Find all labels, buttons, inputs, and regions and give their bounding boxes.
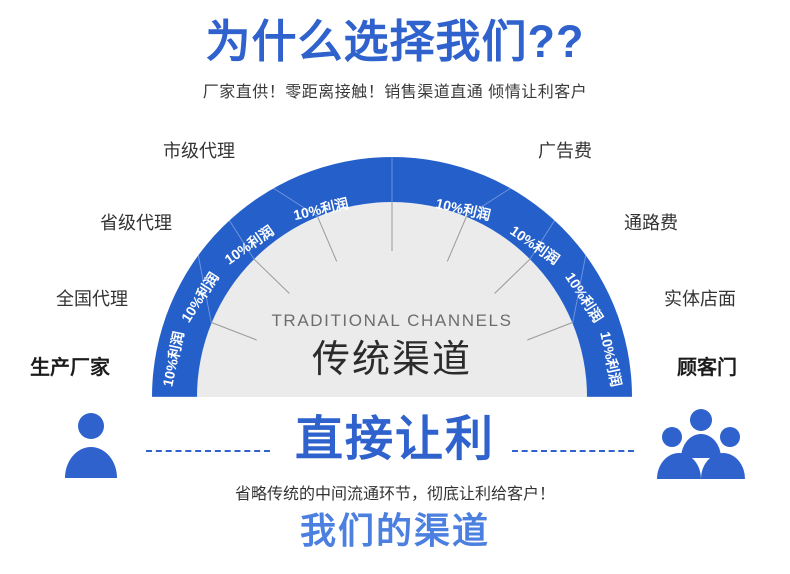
wheel-label-right-1: 广告费 <box>538 140 592 162</box>
traditional-channel-wheel: 10%利润 10%利润 10%利润 10%利润 10%利润 10%利润 10%利… <box>0 120 790 410</box>
wheel-label-right-2: 通路费 <box>624 212 678 234</box>
wheel-label-left-2: 省级代理 <box>100 212 172 234</box>
page-title: 为什么选择我们?? <box>0 16 790 68</box>
wheel-label-left-3: 全国代理 <box>56 288 128 310</box>
disc-caption-cn: 传统渠道 <box>312 339 472 381</box>
bottom-our-channel: 我们的渠道 <box>0 508 790 554</box>
bottom-subline: 省略传统的中间流通环节，彻底让利给客户！ <box>0 484 790 506</box>
wheel-label-left-4: 生产厂家 <box>30 357 110 379</box>
bottom-headline: 直接让利 <box>0 412 790 468</box>
wheel-label-right-4: 顾客门 <box>677 357 737 379</box>
disc-caption-en: TRADITIONAL CHANNELS <box>271 311 512 330</box>
page-subtitle: 厂家直供！零距离接触！销售渠道直通 倾情让利客户 <box>0 82 790 104</box>
wheel-label-right-3: 实体店面 <box>664 288 736 310</box>
wheel-label-left-1: 市级代理 <box>163 140 235 162</box>
poster-canvas: 为什么选择我们?? 厂家直供！零距离接触！销售渠道直通 倾情让利客户 <box>0 0 790 574</box>
